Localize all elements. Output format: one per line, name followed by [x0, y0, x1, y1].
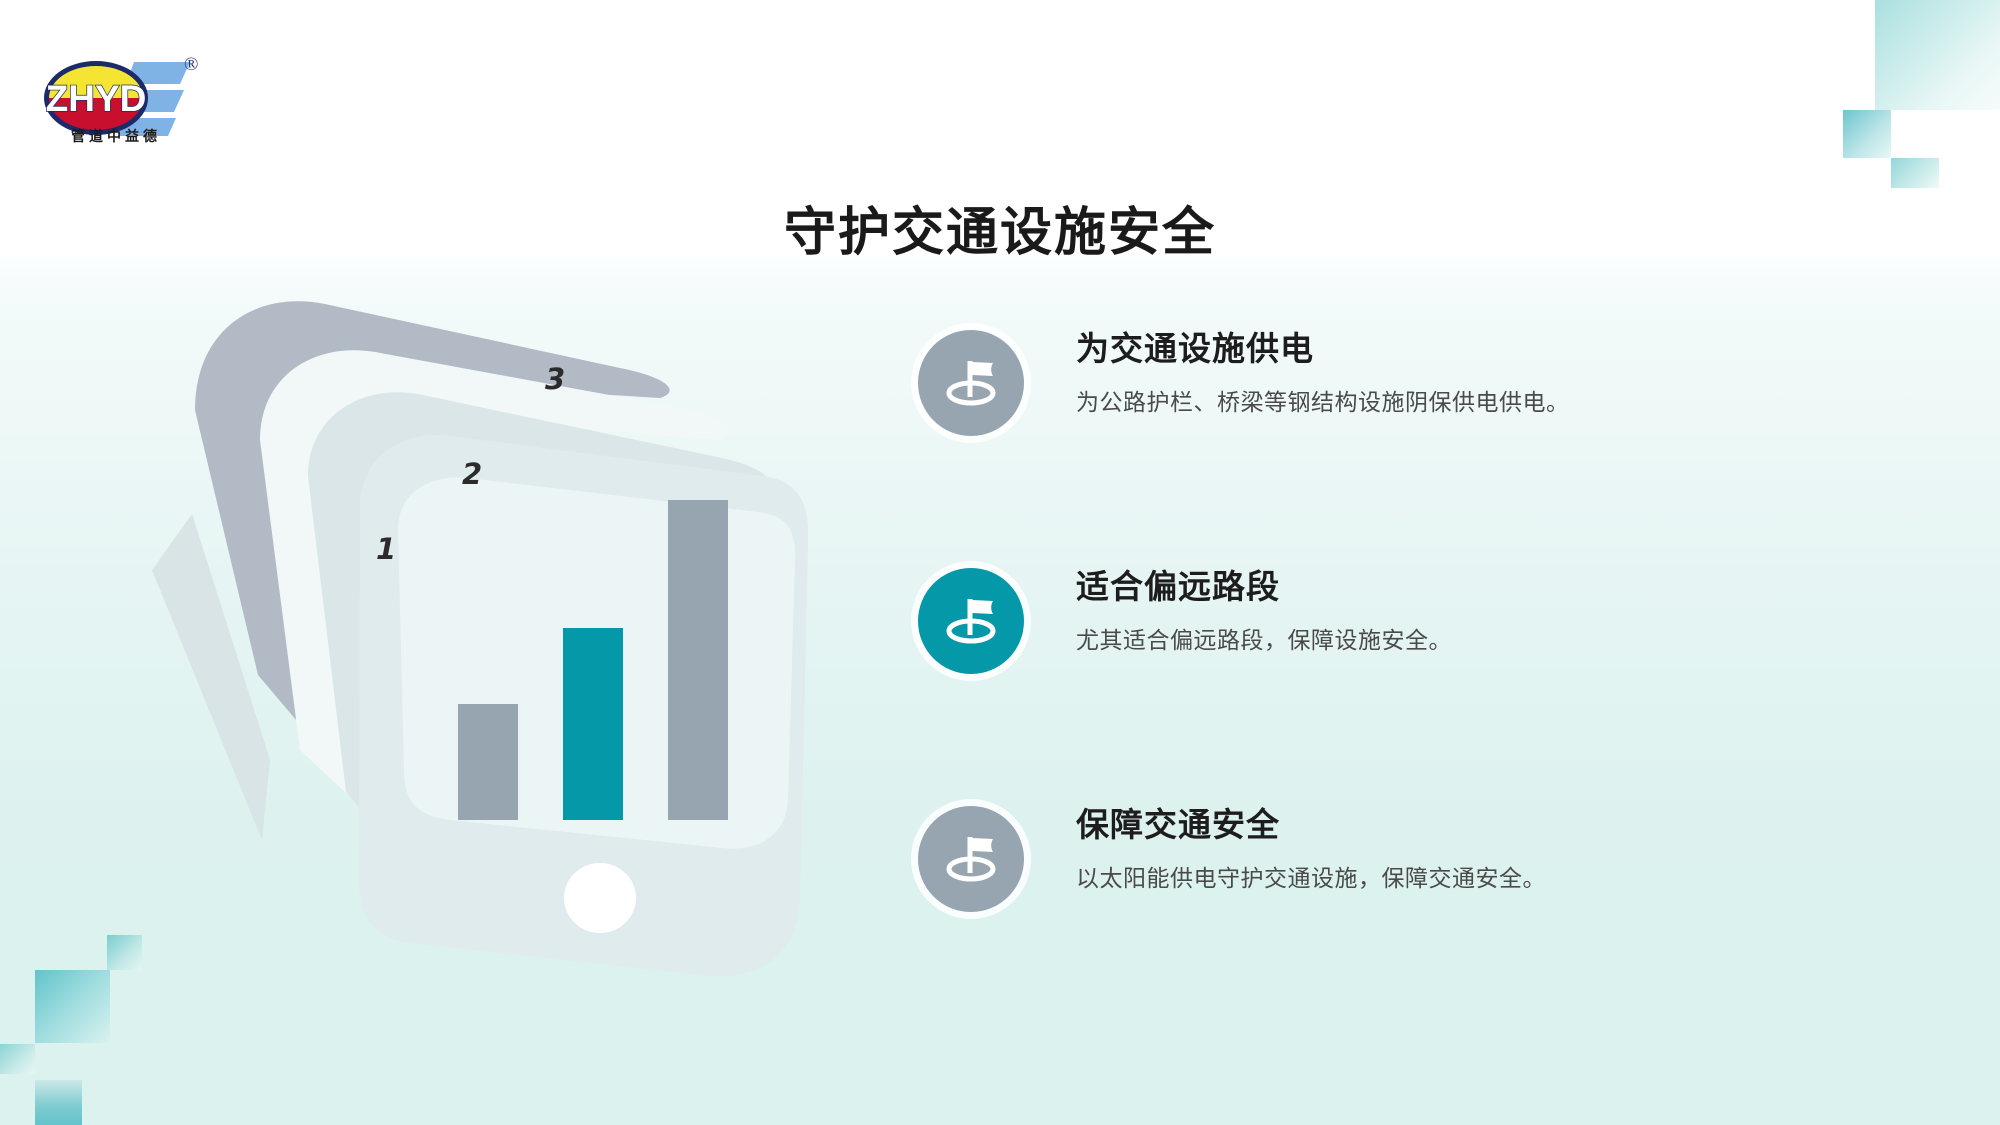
golf-flag-icon [941, 591, 1001, 651]
decorative-square-bottom-left-edge [0, 1044, 35, 1074]
feature-icon-circle-3 [918, 806, 1024, 912]
decorative-square-bottom-left-small [107, 935, 142, 970]
golf-flag-icon [941, 353, 1001, 413]
chart-bar-1 [458, 704, 518, 820]
feature-text-2: 适合偏远路段 尤其适合偏远路段，保障设施安全。 [1076, 566, 1896, 655]
feature-icon-circle-1 [918, 330, 1024, 436]
registered-trademark-icon: ® [184, 54, 198, 76]
feature-text-3: 保障交通安全 以太阳能供电守护交通设施，保障交通安全。 [1076, 804, 1896, 893]
feature-list: 为交通设施供电 为公路护栏、桥梁等钢结构设施阴保供电供电。 适合偏远路段 尤其适… [918, 330, 1918, 1044]
feature-icon-circle-2 [918, 568, 1024, 674]
decorative-square-top-right-medium [1843, 110, 1891, 158]
illustration-graphic [150, 280, 810, 1010]
decorative-square-top-right-small [1891, 158, 1939, 188]
feature-title-1: 为交通设施供电 [1076, 328, 1896, 369]
tablet-chart-illustration: 1 2 3 [150, 280, 810, 1010]
svg-text:ZHYD: ZHYD [46, 78, 147, 119]
feature-title-3: 保障交通安全 [1076, 804, 1896, 845]
feature-item-power-supply[interactable]: 为交通设施供电 为公路护栏、桥梁等钢结构设施阴保供电供电。 [918, 330, 1918, 448]
chart-bar-label-2: 2 [462, 457, 482, 491]
feature-desc-3: 以太阳能供电守护交通设施，保障交通安全。 [1076, 859, 1896, 893]
decorative-square-bottom-left-corner [35, 1080, 82, 1125]
decorative-square-bottom-left-large [35, 970, 110, 1043]
golf-flag-icon [941, 829, 1001, 889]
chart-bar-3 [668, 500, 728, 820]
feature-desc-2: 尤其适合偏远路段，保障设施安全。 [1076, 621, 1896, 655]
decorative-square-top-right-large [1875, 0, 2000, 110]
presentation-slide: ZHYD ® 管道中益德 守护交通设施安全 1 2 [0, 0, 2000, 1125]
page-title: 守护交通设施安全 [0, 190, 2000, 265]
chart-bar-label-1: 1 [376, 532, 396, 566]
logo-subtitle: 管道中益德 [48, 126, 184, 146]
feature-desc-1: 为公路护栏、桥梁等钢结构设施阴保供电供电。 [1076, 383, 1896, 417]
chart-bar-label-3: 3 [545, 362, 565, 396]
feature-item-traffic-safety[interactable]: 保障交通安全 以太阳能供电守护交通设施，保障交通安全。 [918, 806, 1918, 924]
feature-item-remote-roads[interactable]: 适合偏远路段 尤其适合偏远路段，保障设施安全。 [918, 568, 1918, 686]
chart-bar-2 [563, 628, 623, 820]
feature-title-2: 适合偏远路段 [1076, 566, 1896, 607]
company-logo[interactable]: ZHYD ® 管道中益德 [38, 40, 218, 150]
feature-text-1: 为交通设施供电 为公路护栏、桥梁等钢结构设施阴保供电供电。 [1076, 328, 1896, 417]
